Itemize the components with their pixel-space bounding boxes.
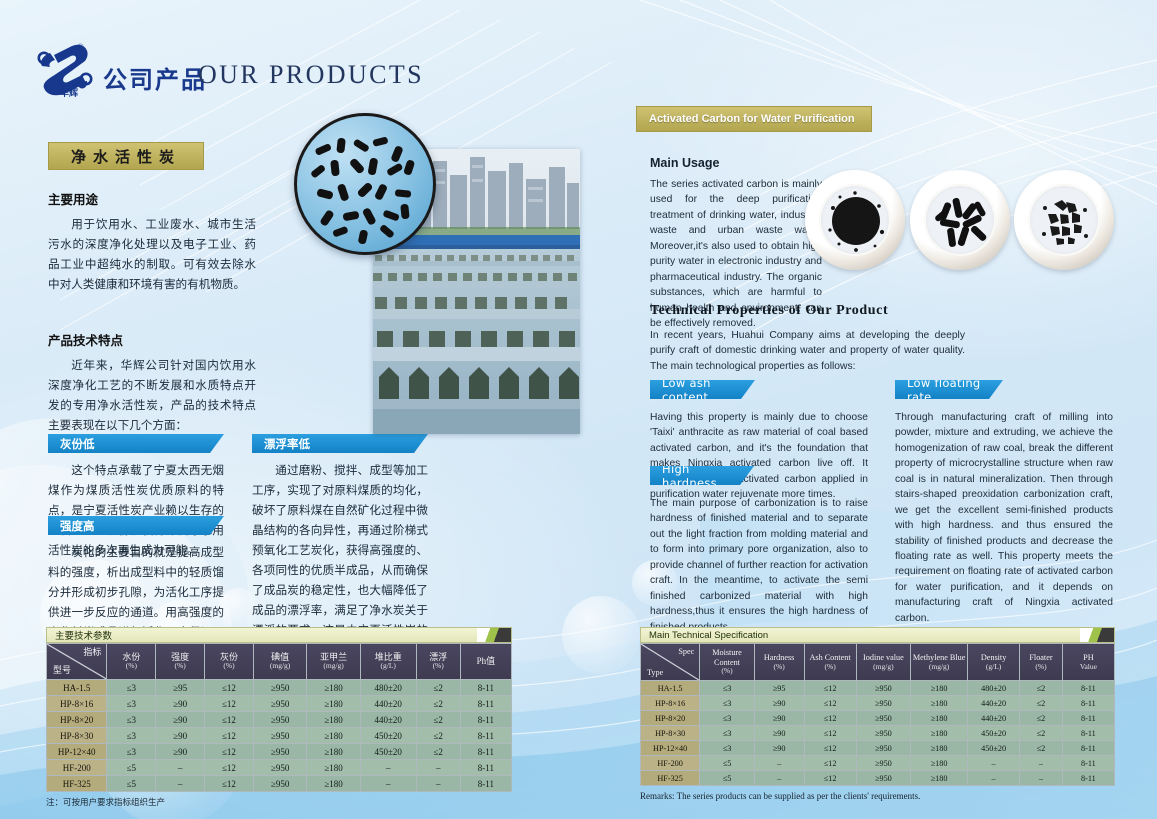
col-unit: (%) bbox=[756, 663, 803, 672]
table-row: HF-200 ≤5– ≤12≥950 ≥180– –8-11 bbox=[47, 760, 512, 776]
cell: 450±20 bbox=[968, 741, 1020, 756]
cell: ≤12 bbox=[804, 741, 856, 756]
feature-tab-low-ash-en-label: Low ash content bbox=[662, 376, 739, 404]
cell: 440±20 bbox=[360, 712, 416, 728]
col-header-hardness-cn: 强度 (%) bbox=[156, 644, 205, 680]
spec-table-cn-title-label: 主要技术参数 bbox=[55, 628, 112, 642]
col-name: Ph值 bbox=[477, 656, 496, 666]
col-name: Iodine value bbox=[863, 653, 904, 662]
spec-table-cn-container: 主要技术参数 指标 型号 水份 (%) bbox=[46, 627, 512, 808]
cell: ≥180 bbox=[307, 760, 360, 776]
cell: ≤5 bbox=[107, 760, 156, 776]
cell: ≥90 bbox=[754, 711, 804, 726]
col-header-ash-en: Ash Content (%) bbox=[804, 644, 856, 681]
cell: ≥180 bbox=[307, 712, 360, 728]
cell: – bbox=[968, 771, 1020, 786]
cell: ≥180 bbox=[911, 696, 968, 711]
cell: ≤12 bbox=[205, 776, 254, 792]
col-unit: (%) bbox=[701, 667, 753, 676]
cell: ≤12 bbox=[205, 712, 254, 728]
svg-text:®: ® bbox=[77, 42, 84, 52]
cell: 450±20 bbox=[360, 744, 416, 760]
cell: ≤3 bbox=[107, 728, 156, 744]
spec-table-en-title-label: Main Technical Specification bbox=[649, 630, 768, 641]
table-row: HP-8×20 ≤3≥90 ≤12≥950 ≥180440±20 ≤28-11 bbox=[641, 711, 1115, 726]
cell: ≥90 bbox=[754, 741, 804, 756]
table-row: HP-12×40 ≤3≥90 ≤12≥950 ≥180450±20 ≤28-11 bbox=[641, 741, 1115, 756]
col-unit: Value bbox=[1064, 663, 1113, 672]
cell: ≥950 bbox=[253, 728, 306, 744]
cell: ≤3 bbox=[107, 680, 156, 696]
feature-tab-high-hardness-en[interactable]: High hardness bbox=[650, 466, 754, 485]
cell: ≥180 bbox=[307, 728, 360, 744]
right-gold-banner: Activated Carbon for Water Purification bbox=[636, 106, 872, 132]
cell: ≥950 bbox=[253, 776, 306, 792]
cell: ≤2 bbox=[416, 728, 460, 744]
row-model: HA-1.5 bbox=[641, 681, 700, 696]
cell: 450±20 bbox=[968, 726, 1020, 741]
cell: ≥950 bbox=[856, 756, 911, 771]
col-unit: (%) bbox=[806, 663, 855, 672]
row-model: HP-8×16 bbox=[641, 696, 700, 711]
col-name: Ash Content bbox=[809, 653, 850, 662]
col-unit: (%) bbox=[157, 662, 203, 671]
cell: – bbox=[968, 756, 1020, 771]
table-row: HP-8×30 ≤3≥90 ≤12≥950 ≥180450±20 ≤28-11 bbox=[641, 726, 1115, 741]
table-row: HP-8×16 ≤3≥90 ≤12≥950 ≥180440±20 ≤28-11 bbox=[47, 696, 512, 712]
cell: 440±20 bbox=[360, 696, 416, 712]
feature-tab-low-ash-cn[interactable]: 灰份低 bbox=[48, 434, 224, 453]
cell: ≤3 bbox=[107, 712, 156, 728]
cell: 450±20 bbox=[360, 728, 416, 744]
spec-table-en-title: Main Technical Specification bbox=[640, 627, 1115, 643]
row-model: HP-8×20 bbox=[47, 712, 107, 728]
row-model: HP-12×40 bbox=[641, 741, 700, 756]
feature-tab-low-ash-en[interactable]: Low ash content bbox=[650, 380, 755, 399]
cell: ≤2 bbox=[1020, 696, 1063, 711]
spec-table-cn-header-row: 指标 型号 水份 (%) 强度 (%) 灰份 (%) 碘值 (mg/g) bbox=[47, 644, 512, 680]
cell: ≤12 bbox=[804, 726, 856, 741]
dish-inner bbox=[819, 184, 891, 256]
col-unit: (mg/g) bbox=[912, 663, 966, 672]
corner-bottom-label-cn: 型号 bbox=[53, 665, 71, 676]
cell: – bbox=[1020, 771, 1063, 786]
tech-properties-heading-en: Technical Properties of Our Product bbox=[650, 303, 965, 319]
cell: 440±20 bbox=[968, 696, 1020, 711]
cell: ≤2 bbox=[416, 744, 460, 760]
cell: 8-11 bbox=[1062, 741, 1114, 756]
cell: ≥180 bbox=[307, 680, 360, 696]
cell: ≤3 bbox=[700, 726, 755, 741]
cell: – bbox=[156, 760, 205, 776]
cell: – bbox=[754, 771, 804, 786]
table-row: HP-12×40 ≤3≥90 ≤12≥950 ≥180450±20 ≤28-11 bbox=[47, 744, 512, 760]
cell: ≤12 bbox=[804, 681, 856, 696]
cell: 8-11 bbox=[460, 696, 511, 712]
header-title-en: OUR PRODUCTS bbox=[198, 60, 424, 90]
cell: 8-11 bbox=[460, 728, 511, 744]
col-header-density-en: Density (g/L) bbox=[968, 644, 1020, 681]
feature-body-low-floating-en: Through manufacturing craft of milling i… bbox=[895, 410, 1113, 626]
cell: ≥180 bbox=[307, 744, 360, 760]
col-name: Hardness bbox=[764, 653, 794, 662]
col-header-moisture-cn: 水份 (%) bbox=[107, 644, 156, 680]
col-name: 强度 bbox=[171, 652, 189, 662]
row-model: HF-325 bbox=[641, 771, 700, 786]
cell: ≥180 bbox=[911, 711, 968, 726]
cell: ≤3 bbox=[107, 696, 156, 712]
cell: 480±20 bbox=[968, 681, 1020, 696]
corner-top-label-en: Spec bbox=[678, 647, 694, 657]
bubble-decoration bbox=[562, 596, 640, 674]
table-row: HF-325 ≤5– ≤12≥950 ≥180– –8-11 bbox=[641, 771, 1115, 786]
cell: 8-11 bbox=[1062, 711, 1114, 726]
cell: – bbox=[754, 756, 804, 771]
col-header-floater-cn: 漂浮 (%) bbox=[416, 644, 460, 680]
feature-tab-low-floating-cn[interactable]: 漂浮率低 bbox=[252, 434, 428, 453]
cell: 8-11 bbox=[460, 680, 511, 696]
cell: ≥950 bbox=[856, 711, 911, 726]
cell: ≥950 bbox=[253, 712, 306, 728]
main-usage-body-cn: 用于饮用水、工业废水、城市生活污水的深度净化处理以及电子工业、药品工业中超纯水的… bbox=[48, 215, 256, 295]
row-model: HF-200 bbox=[641, 756, 700, 771]
cell: ≤3 bbox=[107, 744, 156, 760]
col-header-iodine-cn: 碘值 (mg/g) bbox=[253, 644, 306, 680]
cell: ≤12 bbox=[804, 696, 856, 711]
product-name-tag-cn-label: 净水活性炭 bbox=[71, 146, 181, 167]
cell: ≥950 bbox=[253, 680, 306, 696]
cell: ≥180 bbox=[911, 726, 968, 741]
col-name: Floater bbox=[1029, 653, 1052, 662]
dish-inner bbox=[1028, 184, 1100, 256]
pelletized-carbon-dish bbox=[910, 170, 1010, 270]
col-header-hardness-en: Hardness (%) bbox=[754, 644, 804, 681]
cell: 8-11 bbox=[460, 744, 511, 760]
spec-table-cn: 指标 型号 水份 (%) 强度 (%) 灰份 (%) 碘值 (mg/g) bbox=[46, 643, 512, 792]
cell: ≤2 bbox=[1020, 726, 1063, 741]
cell: – bbox=[416, 776, 460, 792]
col-header-moisture-en: Moisture Content (%) bbox=[700, 644, 755, 681]
cell: ≤2 bbox=[416, 680, 460, 696]
dish-inner bbox=[924, 184, 996, 256]
table-row: HA-1.5 ≤3≥95 ≤12≥950 ≥180480±20 ≤28-11 bbox=[641, 681, 1115, 696]
row-model: HA-1.5 bbox=[47, 680, 107, 696]
cell: ≥950 bbox=[253, 696, 306, 712]
corner-bottom-label-en: Type bbox=[647, 668, 663, 678]
tech-features-heading-cn: 产品技术特点 bbox=[48, 330, 256, 349]
cell: ≥180 bbox=[307, 776, 360, 792]
cell: 480±20 bbox=[360, 680, 416, 696]
cell: ≤2 bbox=[1020, 711, 1063, 726]
col-header-methylene-en: Methylene Blue (mg/g) bbox=[911, 644, 968, 681]
cell: ≥180 bbox=[307, 696, 360, 712]
cell: ≤3 bbox=[700, 681, 755, 696]
tech-properties-body-en: In recent years, Huahui Company aims at … bbox=[650, 328, 965, 374]
feature-tab-low-ash-cn-label: 灰份低 bbox=[60, 436, 95, 452]
svg-text:华辉: 华辉 bbox=[60, 87, 78, 99]
tech-features-body-cn: 近年来，华辉公司针对国内饮用水深度净化工艺的不断发展和水质特点开发的专用净水活性… bbox=[48, 356, 256, 436]
company-logo: ® 华辉 bbox=[30, 38, 100, 100]
feature-tab-low-floating-en-label: Low floating rate bbox=[907, 376, 987, 404]
col-name: 水份 bbox=[122, 652, 140, 662]
feature-tab-high-hardness-en-label: High hardness bbox=[662, 462, 738, 490]
spec-table-cn-note: 注：可按用户要求指标组织生产 bbox=[46, 796, 512, 808]
feature-tab-low-floating-cn-label: 漂浮率低 bbox=[264, 436, 310, 452]
feature-tab-low-floating-en[interactable]: Low floating rate bbox=[895, 380, 1003, 399]
col-header-density-cn: 堆比重 (g/L) bbox=[360, 644, 416, 680]
spec-table-cn-corner-header: 指标 型号 bbox=[47, 644, 107, 680]
cell: 8-11 bbox=[1062, 681, 1114, 696]
cell: ≤2 bbox=[1020, 741, 1063, 756]
title-flag-icon bbox=[477, 628, 511, 642]
col-header-iodine-en: Iodine value (mg/g) bbox=[856, 644, 911, 681]
col-name: 堆比重 bbox=[375, 652, 402, 662]
col-name: Density bbox=[981, 653, 1006, 662]
cell: ≤5 bbox=[700, 756, 755, 771]
table-row: HF-325 ≤5– ≤12≥950 ≥180– –8-11 bbox=[47, 776, 512, 792]
cell: ≤2 bbox=[1020, 681, 1063, 696]
feature-tab-high-hardness-cn[interactable]: 强度高 bbox=[48, 516, 224, 535]
row-model: HF-325 bbox=[47, 776, 107, 792]
cell: ≤5 bbox=[700, 771, 755, 786]
cell: ≤12 bbox=[205, 680, 254, 696]
feature-tab-high-hardness-cn-label: 强度高 bbox=[60, 518, 95, 534]
cell: ≤2 bbox=[416, 696, 460, 712]
cell: ≤12 bbox=[205, 728, 254, 744]
cell: ≤12 bbox=[804, 711, 856, 726]
spec-table-en-header-row: Spec Type Moisture Content (%) Hardness … bbox=[641, 644, 1115, 681]
cell: ≥90 bbox=[754, 696, 804, 711]
row-model: HP-8×30 bbox=[641, 726, 700, 741]
cell: – bbox=[416, 760, 460, 776]
page-root: ® 华辉 公司产品 OUR PRODUCTS 净水活性炭 主要用途 用于饮用水、… bbox=[0, 0, 1157, 819]
col-header-methylene-cn: 亚甲兰 (mg/g) bbox=[307, 644, 360, 680]
cell: ≥95 bbox=[156, 680, 205, 696]
cell: ≤12 bbox=[804, 771, 856, 786]
col-header-ph-en: PH Value bbox=[1062, 644, 1114, 681]
col-header-floater-en: Floater (%) bbox=[1020, 644, 1063, 681]
cell: ≥180 bbox=[911, 756, 968, 771]
cell: ≥90 bbox=[156, 744, 205, 760]
cell: ≤3 bbox=[700, 741, 755, 756]
cell: ≥90 bbox=[754, 726, 804, 741]
cell: 8-11 bbox=[1062, 696, 1114, 711]
cell: 8-11 bbox=[460, 776, 511, 792]
cell: ≥950 bbox=[856, 696, 911, 711]
col-unit: (mg/g) bbox=[858, 663, 910, 672]
col-unit: (%) bbox=[418, 662, 459, 671]
col-name: Moisture Content bbox=[712, 648, 742, 667]
col-unit: (%) bbox=[108, 662, 154, 671]
activated-carbon-pellets-circle bbox=[294, 113, 436, 255]
col-header-ash-cn: 灰份 (%) bbox=[205, 644, 254, 680]
cell: – bbox=[360, 760, 416, 776]
main-usage-heading-en: Main Usage bbox=[650, 156, 822, 170]
cell: ≤3 bbox=[700, 711, 755, 726]
row-model: HP-8×20 bbox=[641, 711, 700, 726]
spec-table-cn-title: 主要技术参数 bbox=[46, 627, 512, 643]
col-name: 漂浮 bbox=[429, 652, 447, 662]
row-model: HP-8×16 bbox=[47, 696, 107, 712]
cell: ≥95 bbox=[754, 681, 804, 696]
cell: 8-11 bbox=[460, 760, 511, 776]
cell: ≥180 bbox=[911, 771, 968, 786]
spec-table-en-body: HA-1.5 ≤3≥95 ≤12≥950 ≥180480±20 ≤28-11 H… bbox=[641, 681, 1115, 786]
product-name-tag-cn: 净水活性炭 bbox=[48, 142, 204, 170]
cell: 8-11 bbox=[460, 712, 511, 728]
row-model: HP-8×30 bbox=[47, 728, 107, 744]
table-row: HP-8×16 ≤3≥90 ≤12≥950 ≥180440±20 ≤28-11 bbox=[641, 696, 1115, 711]
col-unit: (%) bbox=[206, 662, 252, 671]
cell: ≥950 bbox=[856, 771, 911, 786]
table-row: HP-8×20 ≤3≥90 ≤12≥950 ≥180440±20 ≤28-11 bbox=[47, 712, 512, 728]
cell: ≤5 bbox=[107, 776, 156, 792]
spec-table-en: Spec Type Moisture Content (%) Hardness … bbox=[640, 643, 1115, 786]
cell: ≥950 bbox=[856, 726, 911, 741]
cell: ≤2 bbox=[416, 712, 460, 728]
title-flag-icon bbox=[1080, 628, 1114, 642]
cell: – bbox=[1020, 756, 1063, 771]
cell: 8-11 bbox=[1062, 726, 1114, 741]
col-unit: (%) bbox=[1021, 663, 1061, 672]
col-name: PH bbox=[1083, 653, 1093, 662]
spec-table-cn-body: HA-1.5 ≤3≥95 ≤12≥950 ≥180480±20 ≤28-11 H… bbox=[47, 680, 512, 792]
header-title-cn: 公司产品 bbox=[103, 60, 207, 95]
col-header-ph-cn: Ph值 bbox=[460, 644, 511, 680]
cell: ≥950 bbox=[253, 760, 306, 776]
cell: ≤12 bbox=[205, 696, 254, 712]
cell: – bbox=[156, 776, 205, 792]
cell: – bbox=[360, 776, 416, 792]
col-name: Methylene Blue bbox=[913, 653, 966, 662]
crushed-carbon-dish bbox=[1014, 170, 1114, 270]
cell: ≥950 bbox=[253, 744, 306, 760]
cell: ≥180 bbox=[911, 741, 968, 756]
col-name: 灰份 bbox=[220, 652, 238, 662]
cell: 8-11 bbox=[1062, 756, 1114, 771]
col-unit: (g/L) bbox=[969, 663, 1018, 672]
granular-carbon-dish bbox=[805, 170, 905, 270]
cell: 440±20 bbox=[968, 711, 1020, 726]
table-row: HF-200 ≤5– ≤12≥950 ≥180– –8-11 bbox=[641, 756, 1115, 771]
cell: ≤12 bbox=[804, 756, 856, 771]
cell: ≥90 bbox=[156, 696, 205, 712]
spec-table-en-corner-header: Spec Type bbox=[641, 644, 700, 681]
row-model: HP-12×40 bbox=[47, 744, 107, 760]
spec-table-en-container: Main Technical Specification Spec Type M… bbox=[640, 627, 1115, 801]
cell: ≥180 bbox=[911, 681, 968, 696]
right-gold-banner-label: Activated Carbon for Water Purification bbox=[649, 113, 855, 125]
cell: ≥950 bbox=[856, 681, 911, 696]
feature-body-high-hardness-en: The main purpose of carbonization is to … bbox=[650, 496, 868, 635]
cell: 8-11 bbox=[1062, 771, 1114, 786]
col-unit: (g/L) bbox=[362, 662, 415, 671]
cell: ≥950 bbox=[856, 741, 911, 756]
table-row: HA-1.5 ≤3≥95 ≤12≥950 ≥180480±20 ≤28-11 bbox=[47, 680, 512, 696]
row-model: HF-200 bbox=[47, 760, 107, 776]
spec-table-en-note: Remarks: The series products can be supp… bbox=[640, 791, 1115, 801]
table-row: HP-8×30 ≤3≥90 ≤12≥950 ≥180450±20 ≤28-11 bbox=[47, 728, 512, 744]
col-name: 碘值 bbox=[271, 652, 289, 662]
col-name: 亚甲兰 bbox=[320, 652, 347, 662]
corner-top-label-cn: 指标 bbox=[83, 647, 101, 658]
col-unit: (mg/g) bbox=[255, 662, 305, 671]
col-unit: (mg/g) bbox=[308, 662, 358, 671]
cell: ≤12 bbox=[205, 760, 254, 776]
cell: ≤3 bbox=[700, 696, 755, 711]
cell: ≤12 bbox=[205, 744, 254, 760]
cell: ≥90 bbox=[156, 712, 205, 728]
main-usage-heading-cn: 主要用途 bbox=[48, 189, 256, 208]
cell: ≥90 bbox=[156, 728, 205, 744]
